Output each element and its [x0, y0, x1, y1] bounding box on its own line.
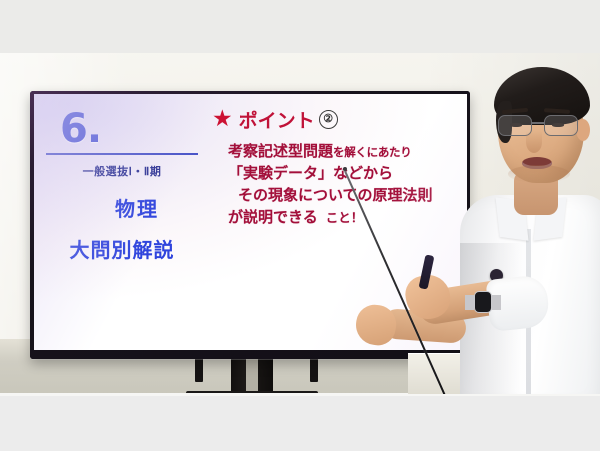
slide-point-block: ★ ポイント ② 考察記述型問題を解くにあたり 「実験データ」などか [212, 106, 462, 230]
point-body-line-1: 考察記述型問題を解くにあたり [228, 142, 462, 164]
point-body: 考察記述型問題を解くにあたり 「実験データ」などから その現象についての原理法則… [212, 142, 462, 230]
tv-stand-leg-left [195, 356, 203, 382]
slide-divider [46, 153, 198, 155]
eyeglasses-icon [496, 115, 588, 137]
presenter-nose [526, 131, 542, 153]
slide-number: 6. [42, 110, 202, 148]
slide-subject-detail: 大問別解説 [42, 234, 202, 263]
point-title: ポイント ② [239, 106, 338, 133]
slide-title-block: 6. 一般選抜Ⅰ・Ⅱ期 物理 大問別解説 [42, 110, 202, 263]
smartwatch-band-right [492, 295, 501, 310]
point-body-line-4-main: が説明できる [228, 210, 318, 226]
letterbox-top [0, 0, 600, 53]
star-icon: ★ [212, 107, 233, 130]
point-number-badge: ② [319, 110, 338, 129]
pointer-stick-tip [343, 167, 347, 171]
tv-stand-column [231, 353, 273, 394]
point-heading: ★ ポイント ② [212, 106, 462, 133]
video-content: 6. 一般選抜Ⅰ・Ⅱ期 物理 大問別解説 ★ ポイント ② [0, 53, 600, 394]
point-body-line-2-main: 「実験データ」などから [228, 166, 393, 182]
eyeglasses-lens-right [544, 115, 578, 136]
point-body-line-3: その現象についての原理法則 [228, 186, 462, 208]
point-body-line-3-main: その現象についての原理法則 [238, 188, 433, 204]
point-label: ポイント [239, 106, 315, 133]
smartwatch-band-left [465, 295, 474, 310]
point-body-line-1-small: を解くにあたり [333, 147, 411, 159]
point-body-line-4-tail: こと！ [326, 211, 364, 225]
slide-subtitle: 一般選抜Ⅰ・Ⅱ期 [42, 163, 202, 179]
eyeglasses-bridge [532, 122, 544, 124]
tv-stand-leg-right [310, 356, 318, 382]
slide-subject: 物理 [42, 193, 202, 222]
presenter [452, 53, 600, 394]
point-body-line-1-main: 考察記述型問題 [228, 144, 333, 160]
presenter-chin-shadow [508, 165, 570, 183]
point-body-line-4: が説明できること！ [228, 208, 462, 230]
letterbox-bottom [0, 396, 600, 451]
video-frame: 6. 一般選抜Ⅰ・Ⅱ期 物理 大問別解説 ★ ポイント ② [0, 0, 600, 451]
smartwatch-icon [474, 291, 492, 313]
